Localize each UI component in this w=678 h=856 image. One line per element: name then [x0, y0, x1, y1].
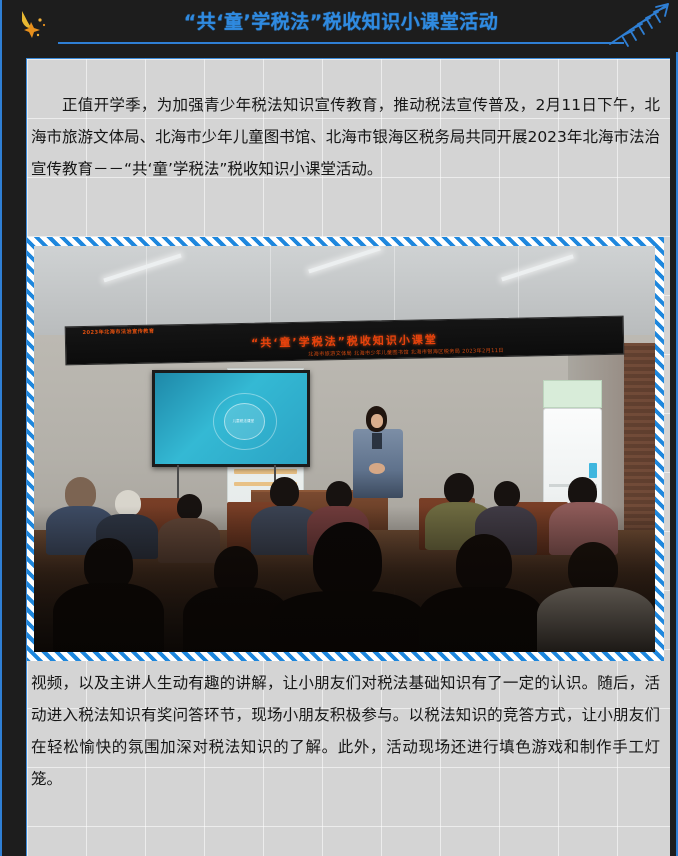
feather-arrow-icon	[604, 0, 676, 48]
article-paragraph-top: 正值开学季，为加强青少年税法知识宣传教育，推动税法宣传普及，2月11日下午，北海…	[27, 89, 670, 185]
photo-frame: 2023年北海市法治宣传教育 “共‘童’学税法”税收知识小课堂 北海市旅游文体局…	[26, 237, 664, 661]
photo-presenter-hand	[369, 463, 385, 474]
event-photo: 2023年北海市法治宣传教育 “共‘童’学税法”税收知识小课堂 北海市旅游文体局…	[34, 246, 655, 652]
photo-presenter-tie	[372, 433, 382, 449]
article-panel: 正值开学季，为加强青少年税法知识宣传教育，推动税法宣传普及，2月11日下午，北海…	[26, 58, 670, 856]
header-divider	[58, 42, 624, 44]
photo-projector-screen: 儿童税法课堂	[152, 370, 310, 467]
page-header: “共‘童’学税法”税收知识小课堂活动	[2, 0, 678, 52]
photo-presenter-face	[371, 414, 383, 428]
banner-line-1: 2023年北海市法治宣传教育	[82, 328, 154, 336]
screen-label: 儿童税法课堂	[216, 419, 271, 424]
photo-wood-column	[624, 343, 655, 538]
page-title: “共‘童’学税法”税收知识小课堂活动	[2, 7, 678, 34]
photo-ac-topbox	[543, 380, 602, 408]
page-frame: “共‘童’学税法”税收知识小课堂活动 正值开学季，为加强青少年税法知识宣传教育，…	[0, 0, 678, 856]
